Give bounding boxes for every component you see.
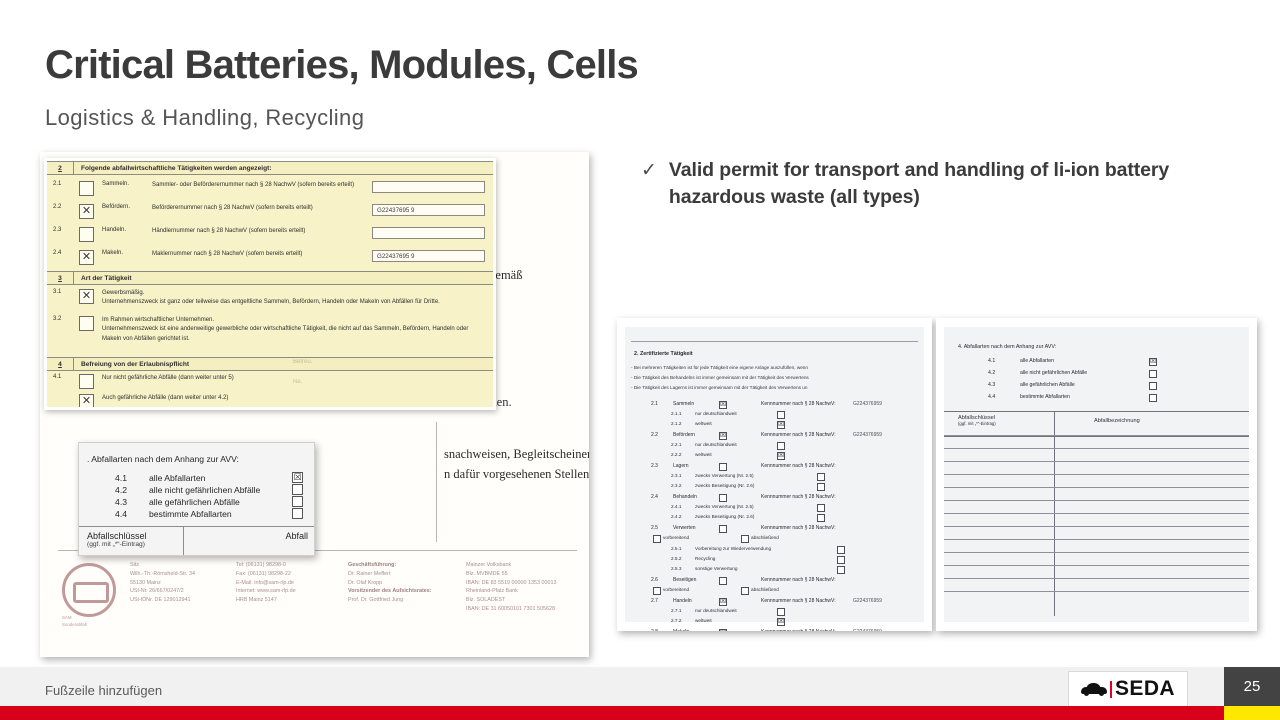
checkbox[interactable] xyxy=(817,514,825,522)
doc2-note: - Die Tätigkeit des Lagerns ist immer ge… xyxy=(631,385,807,390)
checkbox[interactable]: ☒ xyxy=(719,401,727,409)
doc2-row: 2.6 Beseitigen Kennnummer nach § 28 Nach… xyxy=(625,577,924,585)
page-title: Critical Batteries, Modules, Cells xyxy=(45,43,638,88)
bg-text-line: n dafür vorgesehenen Stellen der Formula… xyxy=(444,467,589,482)
doc2-row: 2.7 Handeln ☒ Kennnummer nach § 28 Nachw… xyxy=(625,598,924,606)
checkbox[interactable] xyxy=(292,496,303,507)
table-row xyxy=(944,565,1249,566)
table-row xyxy=(944,461,1249,462)
document-image-permit-notification: n wir gemäß nnen Sie als Erzeuger,- Befö… xyxy=(40,152,589,657)
checkbox[interactable] xyxy=(719,577,727,585)
checkbox[interactable]: ☒ xyxy=(292,472,303,483)
doc2-row: 2.4 Behandeln Kennnummer nach § 28 Nachw… xyxy=(625,494,924,502)
text-input[interactable] xyxy=(372,181,485,193)
avv-row: 4.1 alle Abfallarten ☒ xyxy=(79,472,314,483)
seda-logo: SEDA xyxy=(1068,671,1188,707)
checkbox[interactable] xyxy=(79,316,94,331)
avv-overlay-card: . Abfallarten nach dem Anhang zur AVV: 4… xyxy=(78,442,315,556)
checkbox[interactable]: ☒ xyxy=(719,629,727,631)
doc2-row: 2.1 Sammeln ☒ Kennnummer nach § 28 Nachw… xyxy=(625,401,924,409)
col2-header: Abfallbezeichnung xyxy=(1094,418,1140,424)
page-number: 25 xyxy=(1224,667,1280,706)
accent-bar-yellow xyxy=(1224,706,1280,720)
accent-bar-red xyxy=(0,706,1224,720)
table-row xyxy=(944,578,1249,579)
seal-caption: SAMSonderabfall xyxy=(62,615,87,628)
bg-text-line: snachweisen, Begleitscheinen und Übernah… xyxy=(444,447,589,462)
checkbox[interactable]: ☒ xyxy=(777,421,785,429)
checkbox[interactable] xyxy=(837,566,845,574)
checkbox[interactable] xyxy=(292,508,303,519)
checkbox[interactable] xyxy=(817,473,825,481)
doc2-title: 2. Zertifizierte Tätigkeit xyxy=(634,351,693,357)
section-number: 3 xyxy=(47,272,74,284)
checkbox[interactable] xyxy=(741,535,749,543)
section-title: Folgende abfallwirtschaftliche Tätigkeit… xyxy=(74,165,272,172)
checkbox[interactable] xyxy=(1149,382,1157,390)
check-icon: ✓ xyxy=(641,157,657,211)
document-image-certified-activity: 2. Zertifizierte Tätigkeit - Bei mehrere… xyxy=(617,318,932,631)
checkbox[interactable]: ✕ xyxy=(79,289,94,304)
checkbox[interactable] xyxy=(817,504,825,512)
doc3-row: 4.3 alle gefährlichen Abfälle xyxy=(944,382,1249,390)
logo-divider xyxy=(1110,681,1112,698)
checkbox[interactable] xyxy=(719,494,727,502)
row-label: Gewerbsmäßig. xyxy=(102,290,144,296)
avv-row: 4.3 alle gefährlichen Abfälle xyxy=(79,496,314,507)
doc3-row: 4.1 alle Abfallarten ☒ xyxy=(944,358,1249,366)
checkbox[interactable] xyxy=(653,535,661,543)
letterhead-column: Geschäftsführung:Dr. Rainer Meffert Dr. … xyxy=(348,561,432,605)
logo-wordmark: SEDA xyxy=(1115,677,1175,701)
avv-row: 4.4 bestimmte Abfallarten xyxy=(79,508,314,519)
avv-row: 4.2 alle nicht gefährlichen Abfälle xyxy=(79,484,314,495)
section-number: 4 xyxy=(47,358,74,370)
form-row: 3.1 ✕ Gewerbsmäßig. Unternehmenszweck is… xyxy=(47,289,493,308)
form-row: 3.2 Im Rahmen wirtschaftlicher Unternehm… xyxy=(47,316,493,344)
table-row xyxy=(944,526,1249,527)
page-subtitle: Logistics & Handling, Recycling xyxy=(45,105,364,131)
row-label: Im Rahmen wirtschaftlicher Unternehmen. xyxy=(102,317,214,323)
checkbox[interactable]: ✕ xyxy=(79,394,94,409)
row-description: Unternehmenszweck ist eine anderweitige … xyxy=(102,326,468,341)
doc3-title: 4. Abfallarten nach dem Anhang zur AVV: xyxy=(958,344,1056,350)
avv-col2-header: Abfall xyxy=(285,531,308,541)
doc2-row: 2.5 Verwerten Kennnummer nach § 28 Nachw… xyxy=(625,525,924,533)
checkbox[interactable] xyxy=(653,587,661,595)
checkbox[interactable] xyxy=(719,525,727,533)
checkbox[interactable] xyxy=(1149,370,1157,378)
table-row xyxy=(944,474,1249,475)
checkbox[interactable]: ☒ xyxy=(777,452,785,460)
yellow-form-card: 2 Folgende abfallwirtschaftliche Tätigke… xyxy=(44,158,496,410)
avv-title: . Abfallarten nach dem Anhang zur AVV: xyxy=(87,454,239,464)
letterhead-footer: SAMSonderabfall SitzWilh.-Th.-Römsheld-S… xyxy=(58,557,579,635)
table-row xyxy=(944,552,1249,553)
form-row: 4.1 Nur nicht gefährliche Abfälle (dann … xyxy=(47,374,493,389)
table-row xyxy=(944,448,1249,449)
checkbox[interactable] xyxy=(79,227,94,242)
letterhead-column: Tel: (06131) 98298-0Fax: (06131) 98298-2… xyxy=(236,561,296,605)
checkbox[interactable]: ☒ xyxy=(719,432,727,440)
doc3-page: 4. Abfallarten nach dem Anhang zur AVV: … xyxy=(944,327,1249,622)
doc2-page: 2. Zertifizierte Tätigkeit - Bei mehrere… xyxy=(625,327,924,622)
doc3-row: 4.4 bestimmte Abfallarten xyxy=(944,394,1249,402)
document-image-waste-types-table: 4. Abfallarten nach dem Anhang zur AVV: … xyxy=(936,318,1257,631)
form-section-header: 2 Folgende abfallwirtschaftliche Tätigke… xyxy=(47,161,493,175)
doc3-row: 4.2 alle nicht gefährlichen Abfälle xyxy=(944,370,1249,378)
checkbox[interactable] xyxy=(1149,394,1157,402)
slide-canvas: Critical Batteries, Modules, Cells Logis… xyxy=(0,0,1280,720)
checkbox[interactable] xyxy=(79,374,94,389)
avv-col1-header: Abfallschlüssel (ggf. mit „*“-Eintrag) xyxy=(87,531,147,548)
doc2-note: - Die Tätigkeit des Behandelns ist immer… xyxy=(631,375,809,380)
text-input[interactable]: G22437695 9 xyxy=(372,250,485,262)
avv-table-header: Abfallschlüssel (ggf. mit „*“-Eintrag) A… xyxy=(79,526,314,555)
footer-placeholder-text[interactable]: Fußzeile hinzufügen xyxy=(45,683,162,698)
row-description: Unternehmenszweck ist ganz oder teilweis… xyxy=(102,299,440,305)
table-row xyxy=(944,500,1249,501)
checkbox[interactable] xyxy=(777,442,785,450)
bullet-item: ✓ Valid permit for transport and handlin… xyxy=(641,157,1241,211)
doc2-row: 2.8 Makeln ☒ Kennnummer nach § 28 NachwV… xyxy=(625,629,924,631)
checkbox[interactable] xyxy=(777,411,785,419)
checkbox[interactable]: ✕ xyxy=(79,204,94,219)
text-input[interactable] xyxy=(372,227,485,239)
bullet-text: Valid permit for transport and handling … xyxy=(669,157,1241,211)
faint-label: Betreu. xyxy=(293,359,312,365)
section-number: 2 xyxy=(47,162,74,174)
col1-header: Abfallschlüssel (ggf. mit „*“-Eintrag) xyxy=(958,415,996,426)
checkbox[interactable] xyxy=(292,484,303,495)
checkbox[interactable]: ☒ xyxy=(1149,358,1157,366)
form-section-header: 3 Art der Tätigkeit xyxy=(47,271,493,285)
checkbox[interactable] xyxy=(837,546,845,554)
doc2-row: 2.2 Befördern ☒ Kennnummer nach § 28 Nac… xyxy=(625,432,924,440)
table-row xyxy=(944,435,1249,436)
table-row xyxy=(944,487,1249,488)
checkbox[interactable] xyxy=(79,181,94,196)
checkbox[interactable]: ☒ xyxy=(719,598,727,606)
letterhead-column: SitzWilh.-Th.-Römsheld-Str. 34 55130 Mai… xyxy=(130,561,195,605)
car-icon xyxy=(1081,683,1107,696)
checkbox[interactable] xyxy=(817,483,825,491)
form-row: ✕ Auch gefährliche Abfälle (dann weiter … xyxy=(47,394,493,409)
table-header: Abfallschlüssel (ggf. mit „*“-Eintrag) A… xyxy=(944,411,1249,437)
checkbox[interactable] xyxy=(741,587,749,595)
checkbox[interactable] xyxy=(719,463,727,471)
section-title: Art der Tätigkeit xyxy=(74,275,132,282)
text-input[interactable]: G22437695 9 xyxy=(372,204,485,216)
checkbox[interactable]: ☒ xyxy=(777,618,785,626)
table-row xyxy=(944,513,1249,514)
form-section-header: 4 Befreiung von der Erlaubnispflicht xyxy=(47,357,493,371)
checkbox[interactable]: ✕ xyxy=(79,250,94,265)
table-row xyxy=(944,591,1249,592)
table-row xyxy=(944,539,1249,540)
letterhead-column: Mainzer VolksbankBlz. MVBMDE 55 IBAN: DE… xyxy=(466,561,557,614)
doc2-row: 2.3 Lagern Kennnummer nach § 28 NachwV: xyxy=(625,463,924,471)
checkbox[interactable] xyxy=(777,608,785,616)
company-seal-logo xyxy=(62,563,116,617)
doc2-note: - Bei mehreren Tätigkeiten ist für jede … xyxy=(631,365,808,370)
checkbox[interactable] xyxy=(837,556,845,564)
section-title: Befreiung von der Erlaubnispflicht xyxy=(74,361,189,368)
